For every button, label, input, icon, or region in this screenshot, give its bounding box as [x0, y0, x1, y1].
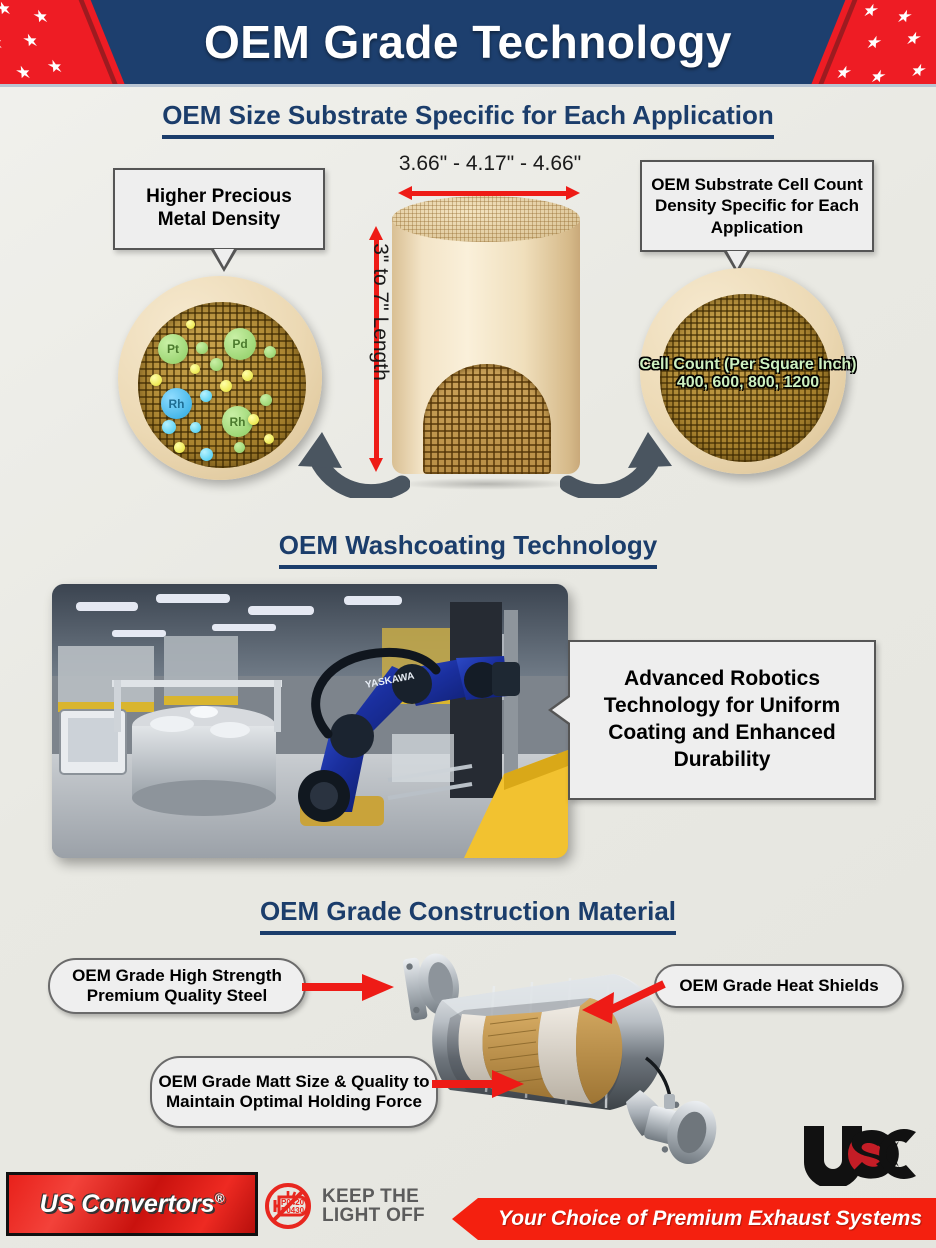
page-title: OEM Grade Technology	[0, 0, 936, 84]
callout-premium-steel: OEM Grade High Strength Premium Quality …	[48, 958, 306, 1014]
registered-mark: ®	[215, 1190, 225, 1205]
header-underline	[0, 84, 936, 87]
arrow-to-matt-icon	[432, 1068, 524, 1102]
cell-count-annotation: Cell Count (Per Square Inch) 400, 600, 8…	[600, 356, 896, 392]
callout-precious-metal-density: Higher Precious Metal Density	[113, 168, 325, 250]
callout-cell-count-density-text: OEM Substrate Cell Count Density Specifi…	[650, 174, 864, 238]
length-label: 3" to 7" Length	[368, 232, 392, 392]
callout-precious-metal-density-text: Higher Precious Metal Density	[123, 186, 315, 232]
callout-advanced-robotics-text: Advanced Robotics Technology for Uniform…	[582, 666, 862, 774]
section-title-construction: OEM Grade Construction Material	[0, 896, 936, 935]
tagline-banner: Your Choice of Premium Exhaust Systems	[452, 1198, 936, 1240]
robot-arm-photo: YASKAWA	[52, 584, 568, 858]
usc-logo-icon	[798, 1122, 924, 1186]
precious-metal-pd: Pd	[224, 328, 256, 360]
precious-metal-pt: Pt	[158, 334, 188, 364]
brand-name-text: US Convertors	[40, 1190, 215, 1218]
section-title-washcoating-text: OEM Washcoating Technology	[279, 530, 657, 569]
section-title-construction-text: OEM Grade Construction Material	[260, 896, 676, 935]
brand-logo-box: US Convertors®	[6, 1172, 258, 1236]
substrate-cylinder	[392, 196, 580, 494]
arrow-to-heat-shields-icon	[580, 980, 666, 1026]
curved-arrow-right-icon	[560, 398, 690, 498]
callout-cell-count-density: OEM Substrate Cell Count Density Specifi…	[640, 160, 874, 252]
section-title-washcoating: OEM Washcoating Technology	[0, 530, 936, 569]
no-check-engine-light-icon: P0420 P0430	[262, 1182, 314, 1230]
keep-light-line1: KEEP THE	[322, 1187, 425, 1206]
usc-logo	[798, 1122, 924, 1186]
keep-light-line2: LIGHT OFF	[322, 1206, 425, 1225]
precious-metal-rh-blue: Rh	[161, 388, 192, 419]
callout-advanced-robotics: Advanced Robotics Technology for Uniform…	[568, 640, 876, 800]
brand-name: US Convertors®	[40, 1190, 225, 1219]
tagline-text: Your Choice of Premium Exhaust Systems	[452, 1207, 922, 1231]
curved-arrow-left-icon	[280, 398, 410, 498]
callout-heat-shields: OEM Grade Heat Shields	[654, 964, 904, 1008]
diameter-label: 3.66" - 4.17" - 4.66"	[350, 152, 630, 176]
section-title-substrate-text: OEM Size Substrate Specific for Each App…	[162, 100, 774, 139]
arrow-to-steel-icon	[302, 972, 394, 1004]
cell-count-line2: 400, 600, 800, 1200	[600, 374, 896, 392]
keep-light-off-text: KEEP THE LIGHT OFF	[322, 1187, 425, 1225]
cell-count-line1: Cell Count (Per Square Inch)	[600, 356, 896, 374]
robot-arm-illustration: YASKAWA	[52, 584, 568, 858]
keep-light-off-badge: P0420 P0430 KEEP THE LIGHT OFF	[262, 1182, 425, 1230]
callout-matt-size-text: OEM Grade Matt Size & Quality to Maintai…	[152, 1072, 436, 1112]
infographic-page: ★ ★ ★ ★ ★ ★ ★ ★ ★ ★ ★ ★ ★ ★ ★ ★ ★	[0, 0, 936, 1248]
page-header: ★ ★ ★ ★ ★ ★ ★ ★ ★ ★ ★ ★ ★ ★ ★ ★ ★	[0, 0, 936, 84]
section-title-substrate: OEM Size Substrate Specific for Each App…	[0, 100, 936, 139]
callout-premium-steel-text: OEM Grade High Strength Premium Quality …	[50, 966, 304, 1006]
callout-matt-size: OEM Grade Matt Size & Quality to Maintai…	[150, 1056, 438, 1128]
callout-heat-shields-text: OEM Grade Heat Shields	[679, 976, 878, 996]
